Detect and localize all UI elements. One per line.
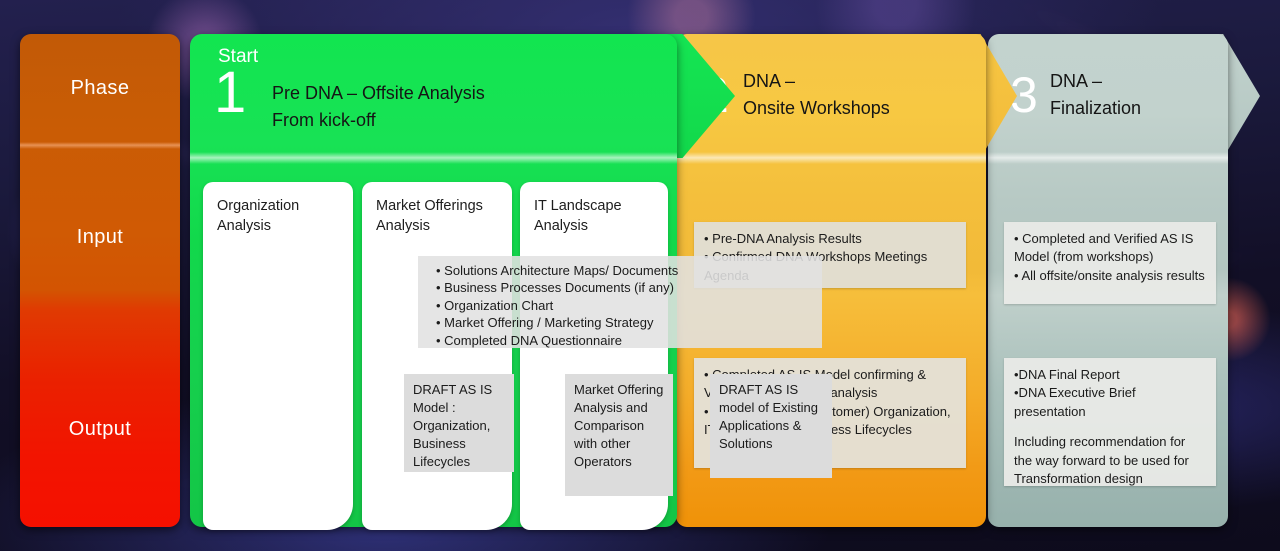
legend-label-output: Output	[69, 418, 131, 441]
phase-2-title: DNA – Onsite Workshops	[743, 68, 890, 122]
phase-3-title: DNA – Finalization	[1050, 68, 1141, 122]
phase-2-title-line2: Onsite Workshops	[743, 95, 890, 122]
phase-3-panel[interactable]: 3 DNA – Finalization • Completed and Ver…	[988, 34, 1260, 529]
legend-label-input: Input	[77, 226, 123, 249]
phase-3-output-text-b: Including recommendation for the way for…	[1014, 433, 1206, 488]
phase-1-output-box-market-offering: Market Offering Analysis and Comparison …	[565, 374, 673, 496]
input-bullet: • Completed DNA Questionnaire	[436, 332, 822, 349]
phase-row-legend-sidebar: Phase Input Output	[20, 34, 180, 527]
phase-3-title-line1: DNA –	[1050, 68, 1141, 95]
legend-row-output: Output	[20, 332, 180, 527]
input-bullet: • Market Offering / Marketing Strategy	[436, 314, 822, 331]
phase-1-number: 1	[214, 64, 246, 122]
phase-3-output-text-a: •DNA Final Report •DNA Executive Brief p…	[1014, 366, 1206, 421]
phase-1-title-line1: Pre DNA – Offsite Analysis	[272, 80, 485, 107]
legend-row-phase: Phase	[20, 34, 180, 142]
phase-3-title-line2: Finalization	[1050, 95, 1141, 122]
phase-3-output-box: •DNA Final Report •DNA Executive Brief p…	[1004, 358, 1216, 486]
input-bullet: • Solutions Architecture Maps/ Documents	[436, 262, 822, 279]
card-title-line2: Analysis	[217, 216, 343, 236]
analysis-card-title: Market Offerings Analysis	[376, 196, 502, 237]
legend-row-input: Input	[20, 142, 180, 332]
phase-1-output-box-it-landscape: DRAFT AS IS model of Existing Applicatio…	[710, 374, 832, 478]
phase-1-title-line2: From kick-off	[272, 107, 485, 134]
card-title-line2: Analysis	[534, 216, 658, 236]
phase-3-output-spacer	[1014, 421, 1206, 433]
phase-3-input-box: • Completed and Verified AS IS Model (fr…	[1004, 222, 1216, 304]
analysis-card-organization[interactable]: Organization Analysis	[203, 182, 353, 530]
phase-1-title: Pre DNA – Offsite Analysis From kick-off	[272, 80, 485, 134]
analysis-card-market-offerings[interactable]: Market Offerings Analysis	[362, 182, 512, 530]
phase-1-header: Start 1 Pre DNA – Offsite Analysis From …	[190, 34, 677, 158]
phase-2-title-line1: DNA –	[743, 68, 890, 95]
analysis-card-title: IT Landscape Analysis	[534, 196, 658, 237]
legend-label-phase: Phase	[71, 77, 130, 100]
card-title-line1: Market Offerings	[376, 196, 502, 216]
input-bullet: • Organization Chart	[436, 297, 822, 314]
analysis-card-title: Organization Analysis	[217, 196, 343, 237]
phase-1-output-box-organization: DRAFT AS IS Model : Organization, Busine…	[404, 374, 514, 472]
input-bullet: • Business Processes Documents (if any)	[436, 279, 822, 296]
card-title-line2: Analysis	[376, 216, 502, 236]
card-title-line1: Organization	[217, 196, 343, 216]
card-title-line1: IT Landscape	[534, 196, 658, 216]
phase-3-header: 3 DNA – Finalization	[988, 34, 1228, 158]
phase-1-panel[interactable]: Start 1 Pre DNA – Offsite Analysis From …	[190, 34, 735, 529]
phase-1-input-box: • Solutions Architecture Maps/ Documents…	[418, 256, 822, 348]
